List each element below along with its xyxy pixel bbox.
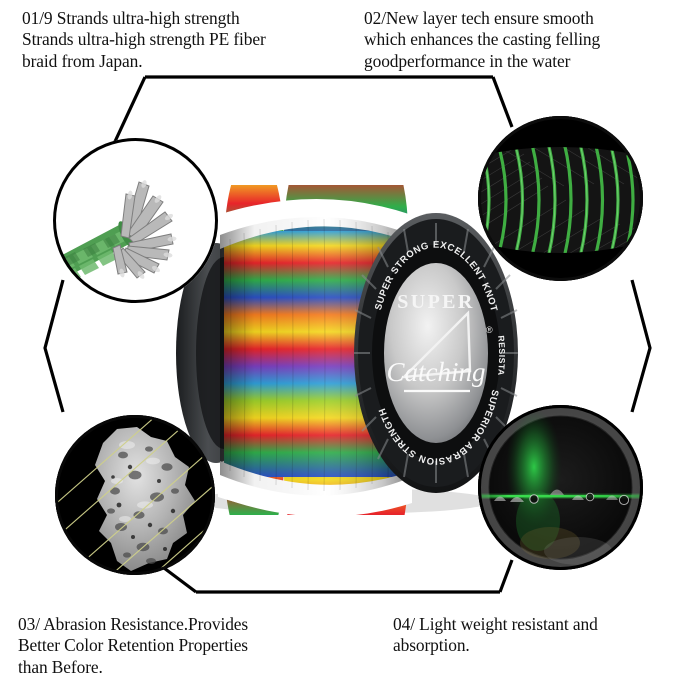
label-registered-mark: ® bbox=[486, 325, 493, 335]
infographic-canvas: SUPER STRONG EXCELLENT KNOT SUPERIOR ABR… bbox=[0, 0, 693, 693]
feature-text-01: 01/9 Strands ultra-high strength Strands… bbox=[22, 8, 362, 72]
feature-text-02: 02/New layer tech ensure smooth which en… bbox=[364, 8, 692, 72]
label-face bbox=[384, 263, 488, 443]
hex-vertex-left bbox=[45, 280, 63, 412]
callout-braid-strands bbox=[53, 138, 218, 303]
label-brand-catching: Catching bbox=[387, 357, 486, 387]
hex-edge-lower-left-diagonal bbox=[160, 565, 196, 592]
hex-edge-upper-right-diagonal bbox=[493, 77, 512, 127]
hex-edge-lower-right-diagonal bbox=[500, 560, 512, 592]
feature-text-04: 04/ Light weight resistant and absorptio… bbox=[393, 614, 693, 657]
label-wordmark-super: SUPER bbox=[397, 291, 475, 313]
hex-vertex-right bbox=[632, 280, 650, 412]
callout-coated-layer bbox=[478, 116, 643, 281]
feature-text-03: 03/ Abrasion Resistance.Provides Better … bbox=[18, 614, 358, 678]
callout-rock-abrasion bbox=[55, 415, 215, 575]
fishing-line-spool: SUPER STRONG EXCELLENT KNOT SUPERIOR ABR… bbox=[168, 185, 526, 515]
callout-floating-line-water bbox=[478, 405, 643, 570]
